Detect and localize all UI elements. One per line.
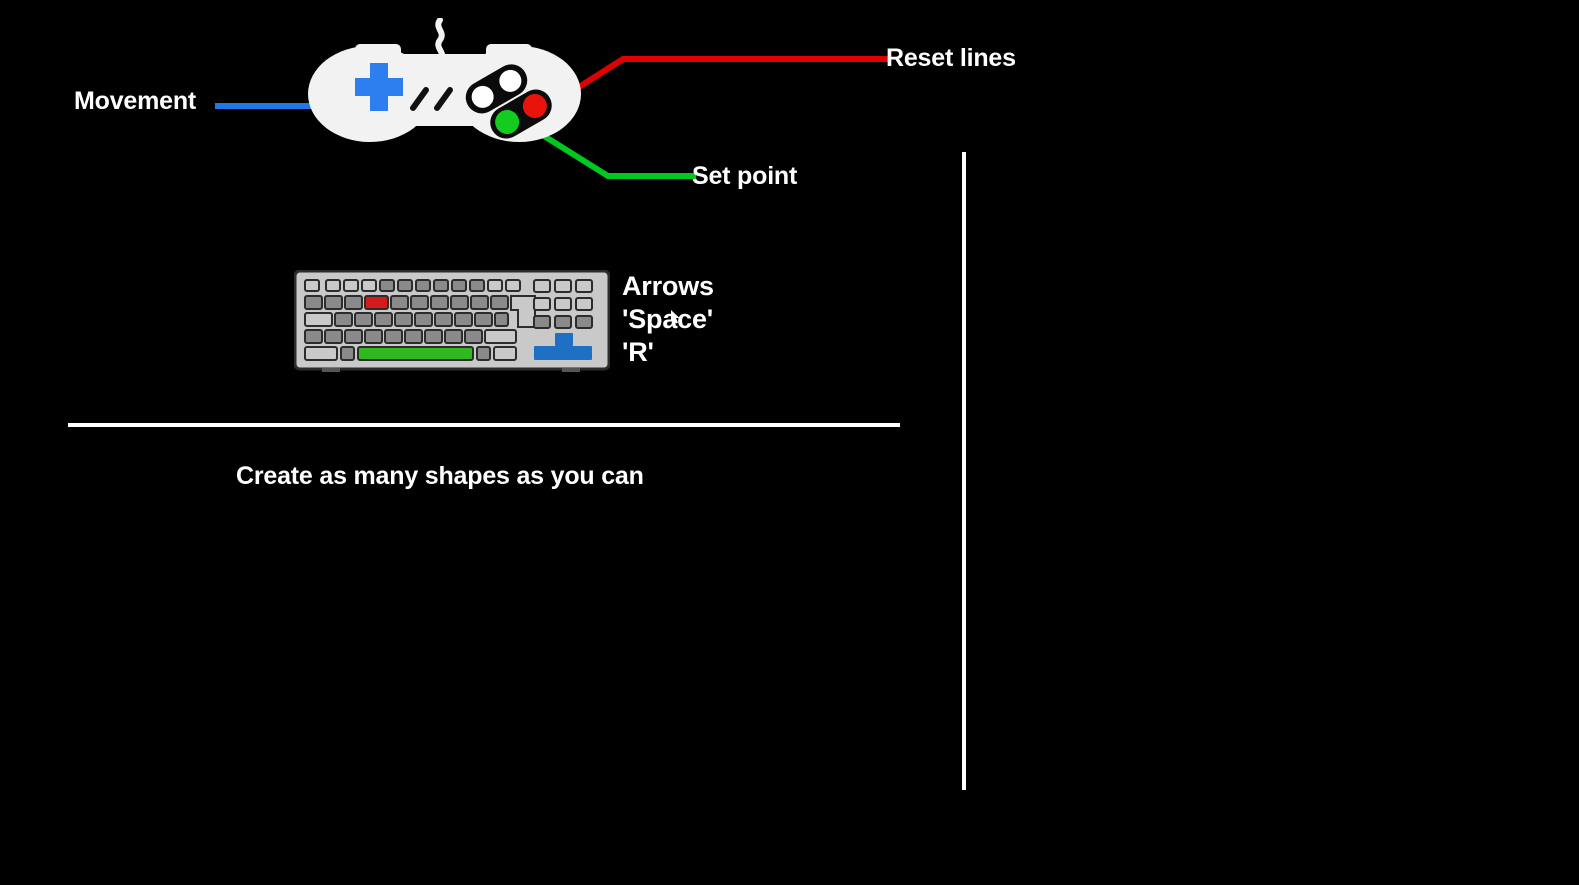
key-r-highlight: [365, 296, 388, 309]
movement-label: Movement: [74, 89, 196, 114]
mouse-cursor-icon: [671, 310, 680, 324]
game-start-screen: Movement Reset lines Set point: [0, 0, 1579, 885]
section-divider-horizontal: [68, 423, 900, 427]
keyboard-legend-arrows: Arrows: [622, 270, 714, 303]
keyboard-icon: [294, 270, 610, 372]
gamepad-icon: [300, 18, 590, 168]
objective-text: Create as many shapes as you can: [236, 464, 644, 489]
keyboard-legend: Arrows 'Space' 'R': [622, 270, 714, 369]
keyboard-legend-space: 'Space': [622, 303, 714, 336]
set-point-label: Set point: [692, 164, 797, 189]
key-space-highlight: [358, 347, 473, 360]
menu-panel: Single Player Two Players: [966, 0, 1579, 885]
controls-panel: Movement Reset lines Set point: [0, 0, 962, 885]
keyboard-legend-r: 'R': [622, 336, 714, 369]
